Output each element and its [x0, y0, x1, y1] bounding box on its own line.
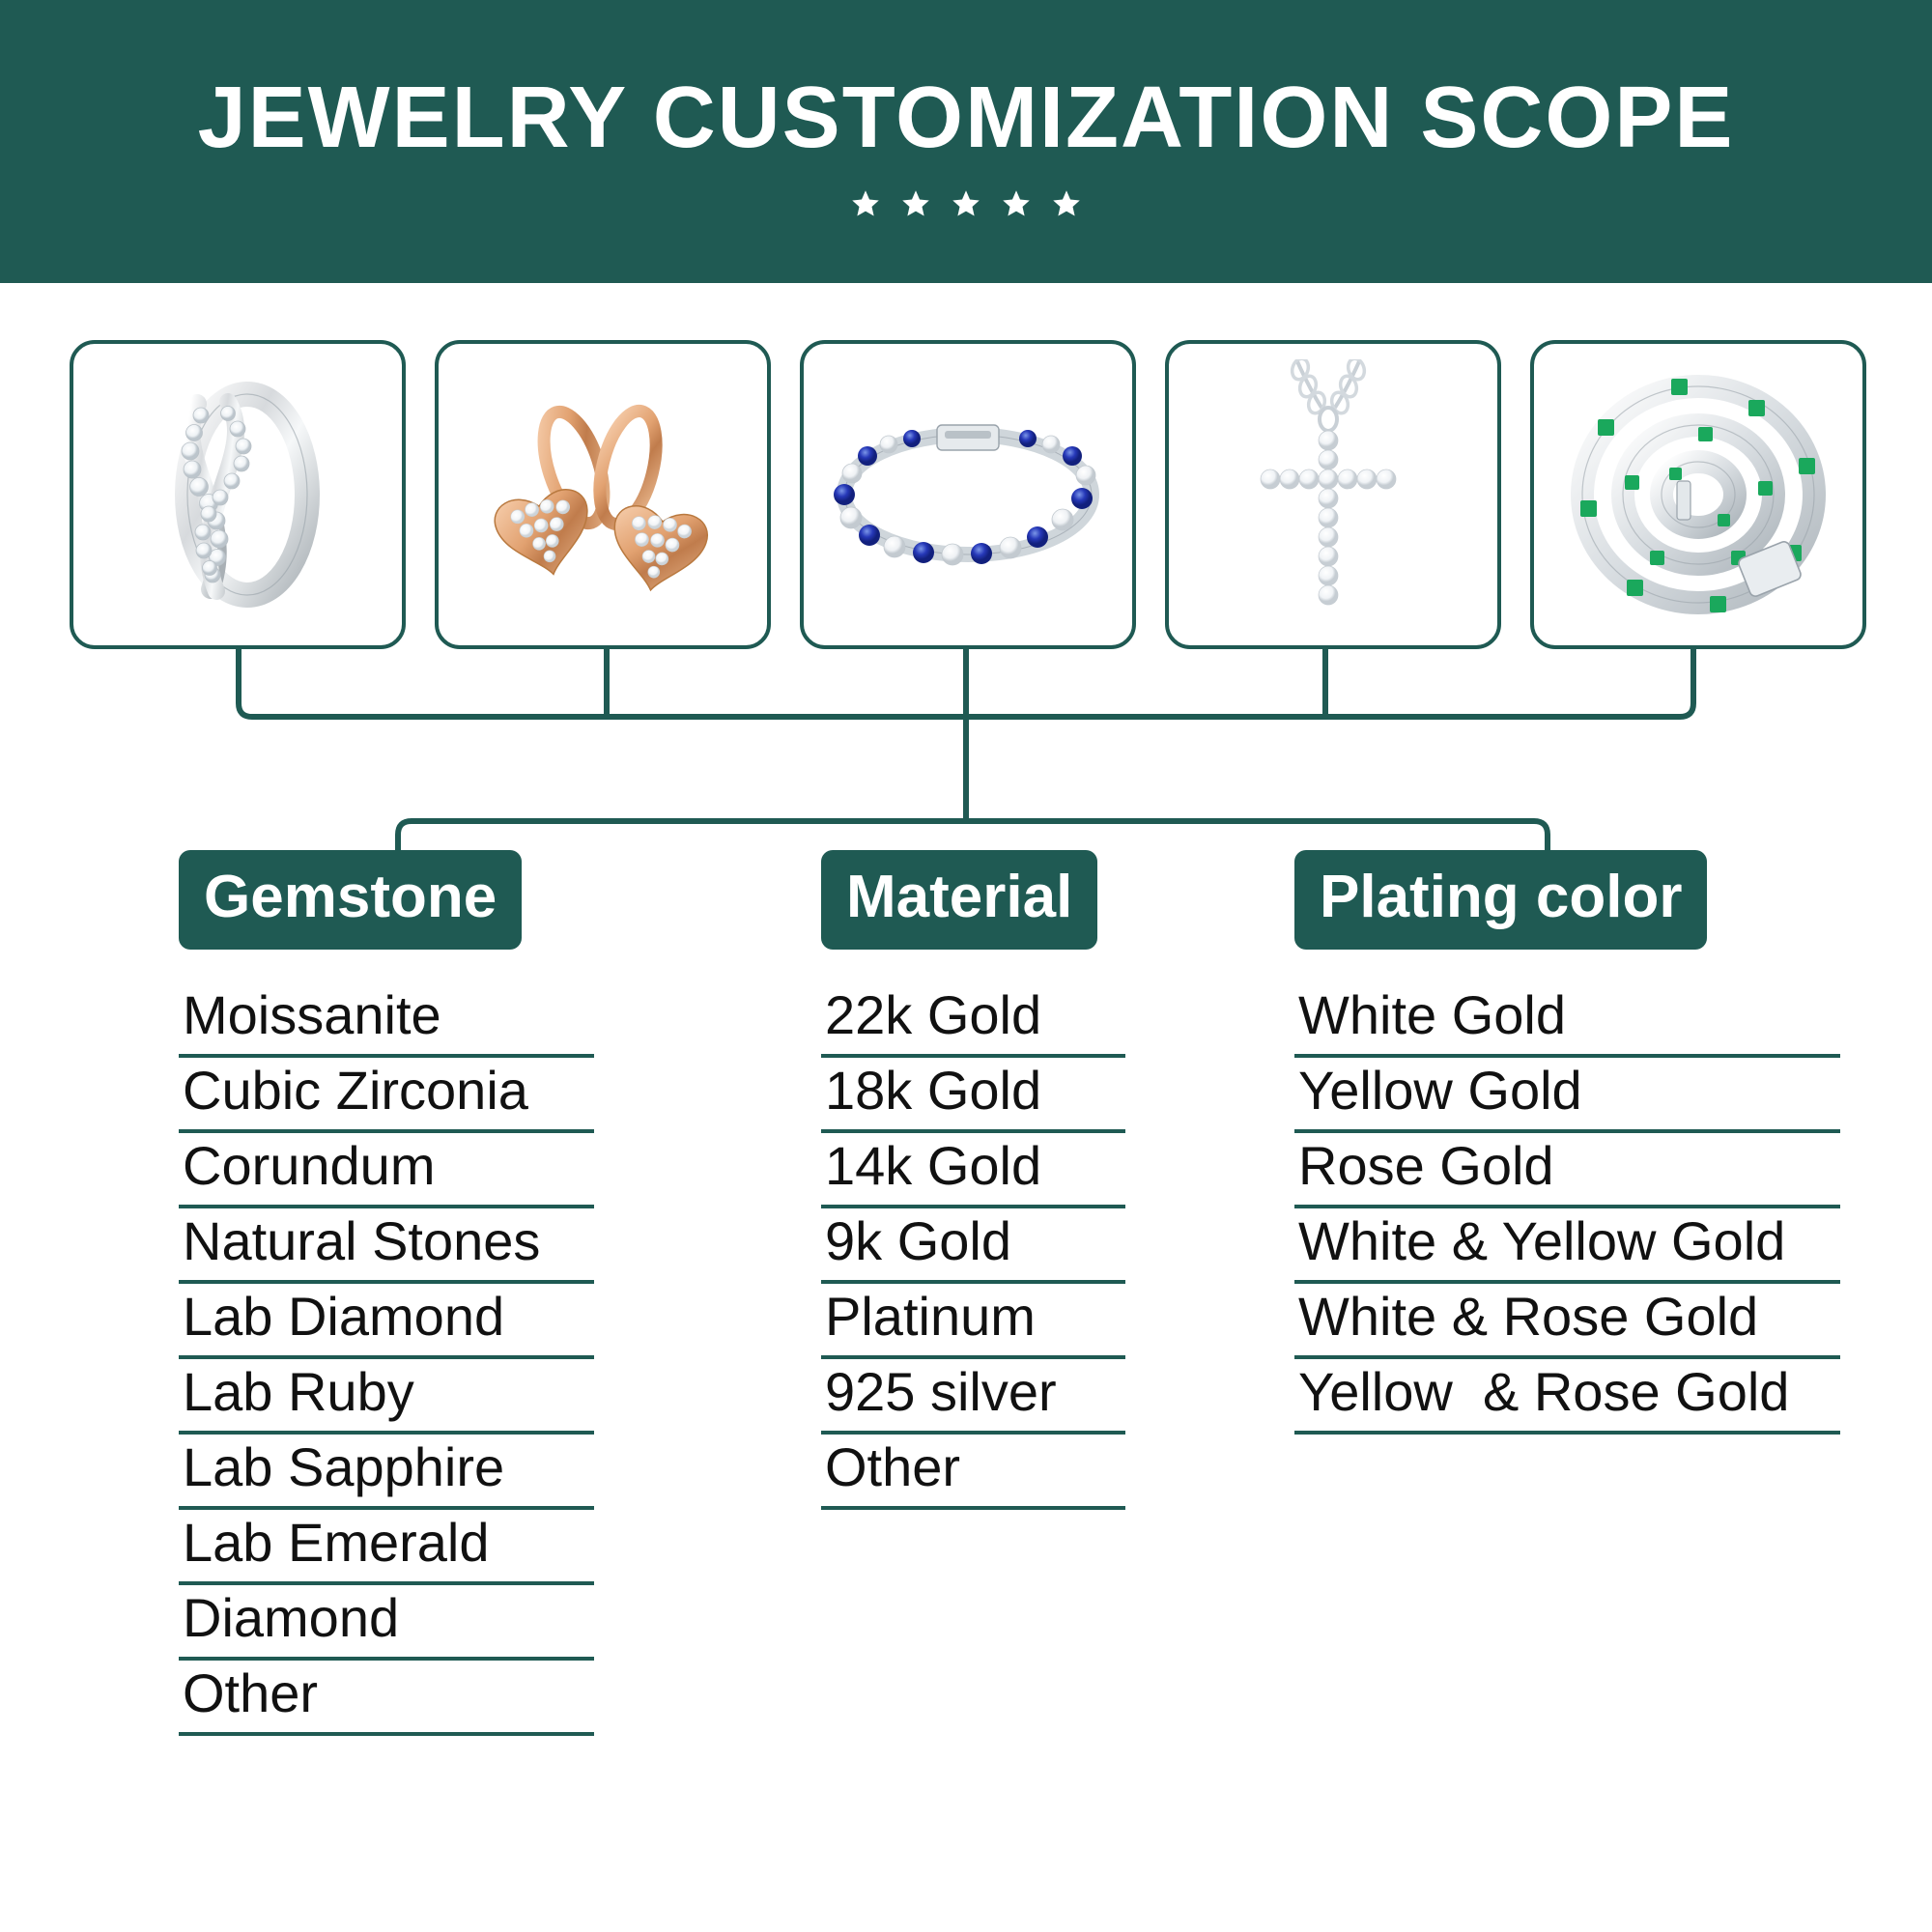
list-item[interactable]: 9k Gold — [821, 1208, 1125, 1284]
column-plating-color: Plating color White Gold Yellow Gold Ros… — [1294, 850, 1840, 1435]
list-item[interactable]: White Gold — [1294, 982, 1840, 1058]
list-item[interactable]: Diamond — [179, 1585, 594, 1661]
column-gemstone: Gemstone Moissanite Cubic Zirconia Corun… — [179, 850, 594, 1736]
connector-tree — [0, 638, 1932, 879]
bracelet-icon — [823, 359, 1113, 630]
page-header: JEWELRY CUSTOMIZATION SCOPE — [0, 0, 1932, 283]
product-card-chain[interactable] — [1530, 340, 1866, 649]
list-item[interactable]: Natural Stones — [179, 1208, 594, 1284]
list-item[interactable]: 925 silver — [821, 1359, 1125, 1435]
list-item[interactable]: Platinum — [821, 1284, 1125, 1359]
list-item[interactable]: 18k Gold — [821, 1058, 1125, 1133]
list-item[interactable]: Moissanite — [179, 982, 594, 1058]
list-item[interactable]: 22k Gold — [821, 982, 1125, 1058]
list-item[interactable]: Other — [179, 1661, 594, 1736]
cross-necklace-icon — [1188, 359, 1478, 630]
star-rating — [851, 189, 1081, 218]
product-card-ring[interactable] — [70, 340, 406, 649]
column-heading-plating-color: Plating color — [1294, 850, 1707, 950]
product-card-earrings[interactable] — [435, 340, 771, 649]
list-item[interactable]: 14k Gold — [821, 1133, 1125, 1208]
plating-color-list: White Gold Yellow Gold Rose Gold White &… — [1294, 982, 1840, 1435]
list-item[interactable]: Corundum — [179, 1133, 594, 1208]
column-heading-material: Material — [821, 850, 1097, 950]
column-material: Material 22k Gold 18k Gold 14k Gold 9k G… — [821, 850, 1125, 1510]
list-item[interactable]: Cubic Zirconia — [179, 1058, 594, 1133]
list-item[interactable]: Other — [821, 1435, 1125, 1510]
product-card-row — [70, 340, 1866, 649]
material-list: 22k Gold 18k Gold 14k Gold 9k Gold Plati… — [821, 982, 1125, 1510]
gemstone-list: Moissanite Cubic Zirconia Corundum Natur… — [179, 982, 594, 1736]
star-icon — [1002, 189, 1031, 218]
list-item[interactable]: Yellow Gold — [1294, 1058, 1840, 1133]
page-title: JEWELRY CUSTOMIZATION SCOPE — [198, 72, 1735, 164]
ring-icon — [93, 359, 383, 630]
star-icon — [901, 189, 930, 218]
list-item[interactable]: Lab Ruby — [179, 1359, 594, 1435]
star-icon — [952, 189, 980, 218]
list-item[interactable]: White & Yellow Gold — [1294, 1208, 1840, 1284]
product-card-bracelet[interactable] — [800, 340, 1136, 649]
cuban-chain-icon — [1553, 359, 1843, 630]
product-card-necklace[interactable] — [1165, 340, 1501, 649]
list-item[interactable]: Yellow & Rose Gold — [1294, 1359, 1840, 1435]
column-heading-gemstone: Gemstone — [179, 850, 522, 950]
star-icon — [851, 189, 880, 218]
earrings-icon — [458, 359, 748, 630]
list-item[interactable]: Rose Gold — [1294, 1133, 1840, 1208]
list-item[interactable]: Lab Emerald — [179, 1510, 594, 1585]
list-item[interactable]: White & Rose Gold — [1294, 1284, 1840, 1359]
star-icon — [1052, 189, 1081, 218]
list-item[interactable]: Lab Diamond — [179, 1284, 594, 1359]
list-item[interactable]: Lab Sapphire — [179, 1435, 594, 1510]
